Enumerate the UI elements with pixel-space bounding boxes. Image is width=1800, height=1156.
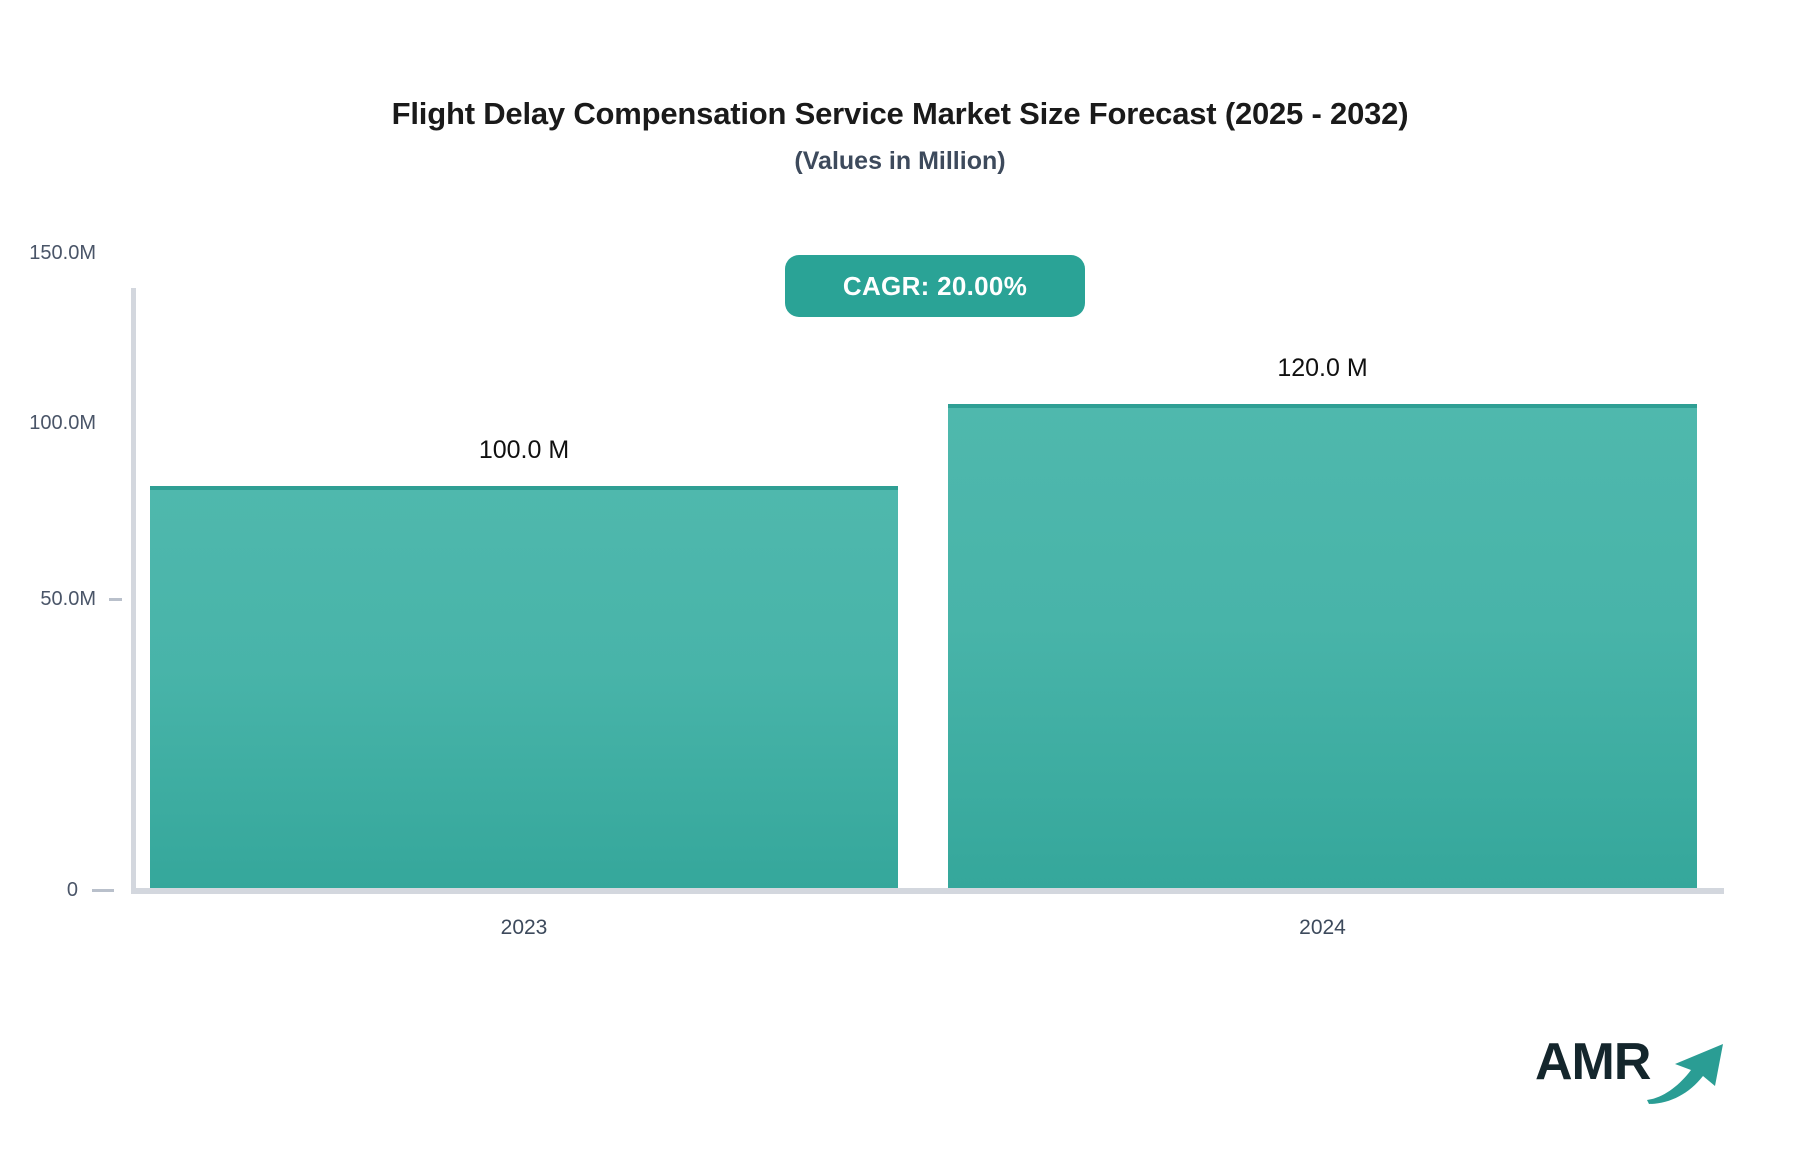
y-tick-label-0: 0: [0, 879, 78, 902]
plot-area: 150.0M 100.0M 50.0M 0 100.0 M 120.0 M 20…: [0, 0, 1800, 1156]
bar-value-label-2023: 100.0 M: [150, 436, 898, 465]
y-axis-line: [131, 288, 136, 889]
amr-logo-text: AMR: [1535, 1032, 1650, 1092]
chart-canvas: Flight Delay Compensation Service Market…: [0, 0, 1800, 1156]
y-tick-label-50: 50.0M: [0, 588, 96, 611]
amr-logo: AMR: [1535, 1030, 1735, 1110]
y-tick-label-150: 150.0M: [0, 242, 96, 265]
x-tick-label-2024: 2024: [948, 916, 1697, 940]
bar-2023: [150, 486, 898, 888]
bar-value-label-2024: 120.0 M: [948, 354, 1697, 383]
y-tick-dash-0: [92, 889, 114, 892]
x-tick-label-2023: 2023: [150, 916, 898, 940]
growth-arrow-icon: [1645, 1042, 1735, 1109]
bar-2024: [948, 404, 1697, 888]
y-tick-label-100: 100.0M: [0, 412, 96, 435]
x-axis-line: [131, 888, 1724, 894]
y-tick-dash-50: [109, 598, 122, 601]
